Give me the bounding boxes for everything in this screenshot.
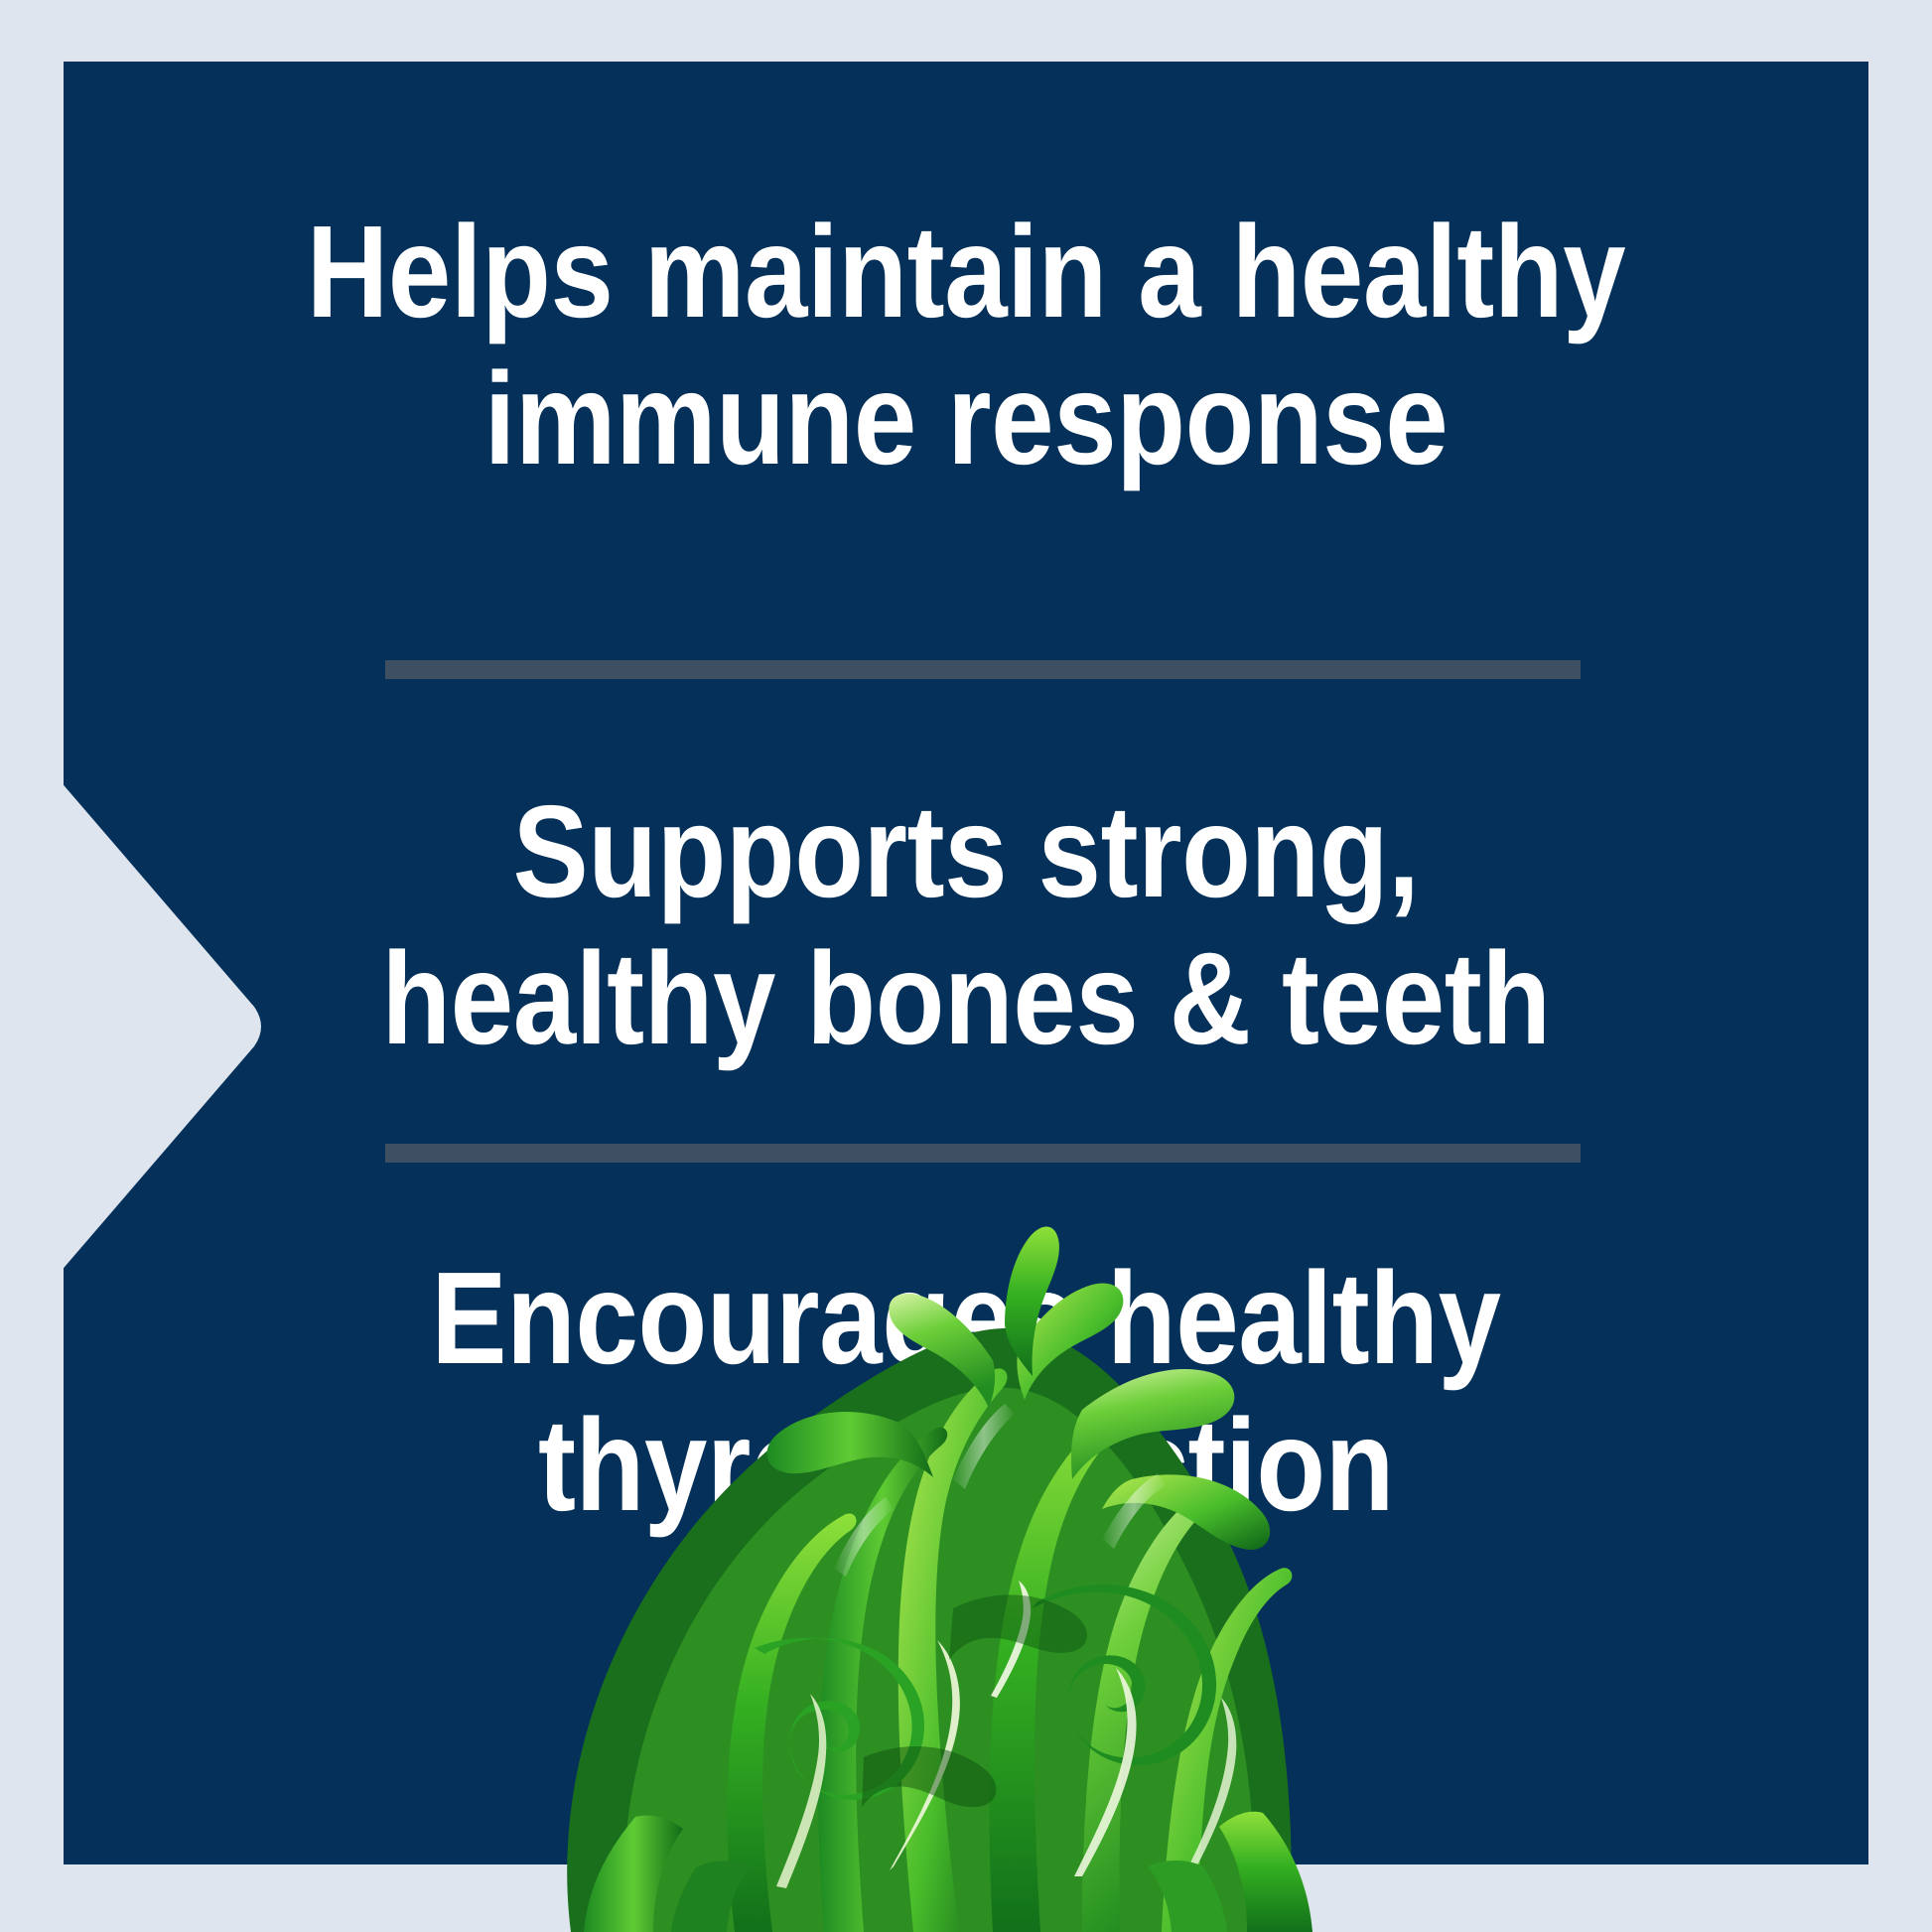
promo-card: Helps maintain a healthy immune response… [0, 0, 1932, 1932]
benefit-item-thyroid: Encourages healthy thyroid function [186, 1245, 1747, 1573]
navy-panel: Helps maintain a healthy immune response… [64, 62, 1868, 1864]
benefit-divider-2 [385, 1144, 1581, 1163]
benefit-item-immune: Helps maintain a healthy immune response [186, 199, 1747, 526]
benefit-divider-1 [385, 660, 1581, 679]
benefit-item-bones: Supports strong, healthy bones & teeth [186, 778, 1747, 1106]
